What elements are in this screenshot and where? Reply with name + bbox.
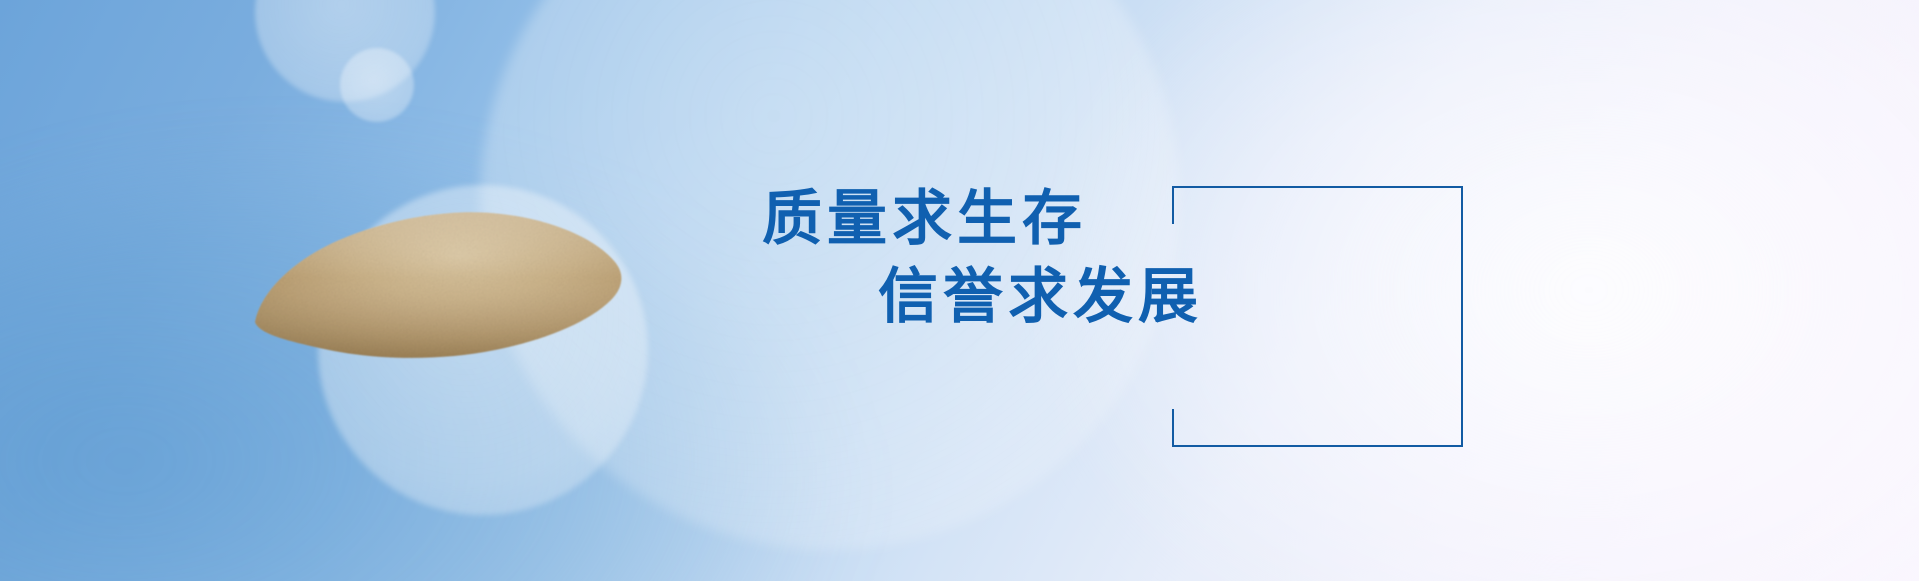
banner-headline: 质量求生存 信誉求发展 (700, 180, 1460, 336)
headline-line-2: 信誉求发展 (700, 258, 1460, 336)
headline-line-1: 质量求生存 (700, 180, 1460, 258)
banner-content: 质量求生存 信誉求发展 (0, 0, 1919, 581)
frame-edge-left-lower (1172, 409, 1174, 447)
frame-edge-right (1461, 186, 1463, 447)
promo-banner: 质量求生存 信誉求发展 (0, 0, 1919, 581)
frame-edge-bottom (1172, 445, 1463, 447)
